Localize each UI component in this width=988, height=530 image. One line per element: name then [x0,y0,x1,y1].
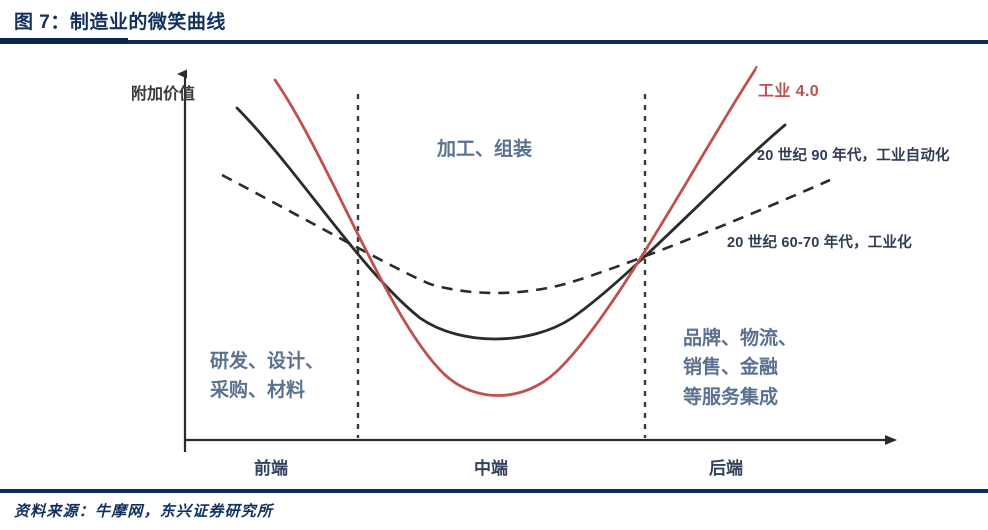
automation-90s-label: 20 世纪 90 年代，工业自动化 [757,144,950,165]
back-stage-line-3: 等服务集成 [683,383,797,412]
figure-container: 图 7：制造业的微笑曲线 [0,0,988,530]
back-stage-line-1: 品牌、物流、 [683,324,797,353]
smile-curve-svg [0,44,988,489]
front-stage-line-1: 研发、设计、 [210,347,324,376]
back-stage-block: 品牌、物流、 销售、金融 等服务集成 [683,324,797,412]
y-axis-label: 附加价值 [131,86,153,103]
industry40-leader [745,66,757,86]
front-stage-block: 研发、设计、 采购、材料 [210,347,324,406]
chart-plot-area: 附加价值 加工、组装 研发、设计、 采购、材料 品牌、物流、 销售、金融 等服务… [0,44,988,489]
x-tick-back: 后端 [709,454,743,479]
footer-divider [0,489,988,493]
x-tick-front: 前端 [254,454,288,479]
back-stage-line-2: 销售、金融 [683,353,797,382]
middle-stage-label: 加工、组装 [437,135,532,164]
front-stage-line-2: 采购、材料 [210,376,324,405]
industrialization-6070s-label: 20 世纪 60-70 年代，工业化 [727,231,912,252]
x-tick-middle: 中端 [474,454,508,479]
industry40-label: 工业 4.0 [758,77,819,101]
figure-title: 图 7：制造业的微笑曲线 [14,7,226,34]
source-note: 资料来源：牛摩网，东兴证券研究所 [14,500,273,521]
